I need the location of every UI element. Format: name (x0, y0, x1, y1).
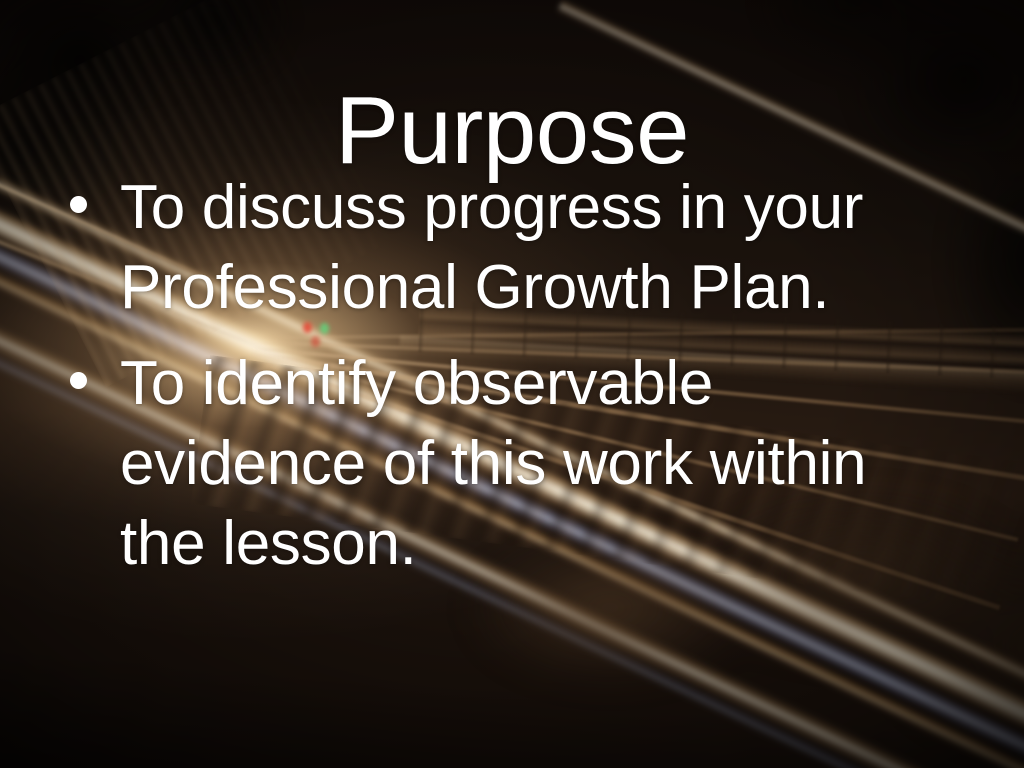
slide-content: Purpose To discuss progress in your Prof… (0, 0, 1024, 768)
presentation-slide: Purpose To discuss progress in your Prof… (0, 0, 1024, 768)
bullet-text-2: To identify observable evidence of this … (120, 349, 866, 578)
bullet-dot-icon (70, 372, 87, 389)
bullet-dot-icon (70, 196, 87, 213)
bullet-text-1: To discuss progress in your Professional… (120, 173, 863, 322)
bullet-list: To discuss progress in your Professional… (58, 168, 958, 584)
slide-title: Purpose (0, 82, 1024, 180)
bullet-item-2: To identify observable evidence of this … (58, 344, 920, 584)
bullet-item-1: To discuss progress in your Professional… (58, 168, 920, 328)
